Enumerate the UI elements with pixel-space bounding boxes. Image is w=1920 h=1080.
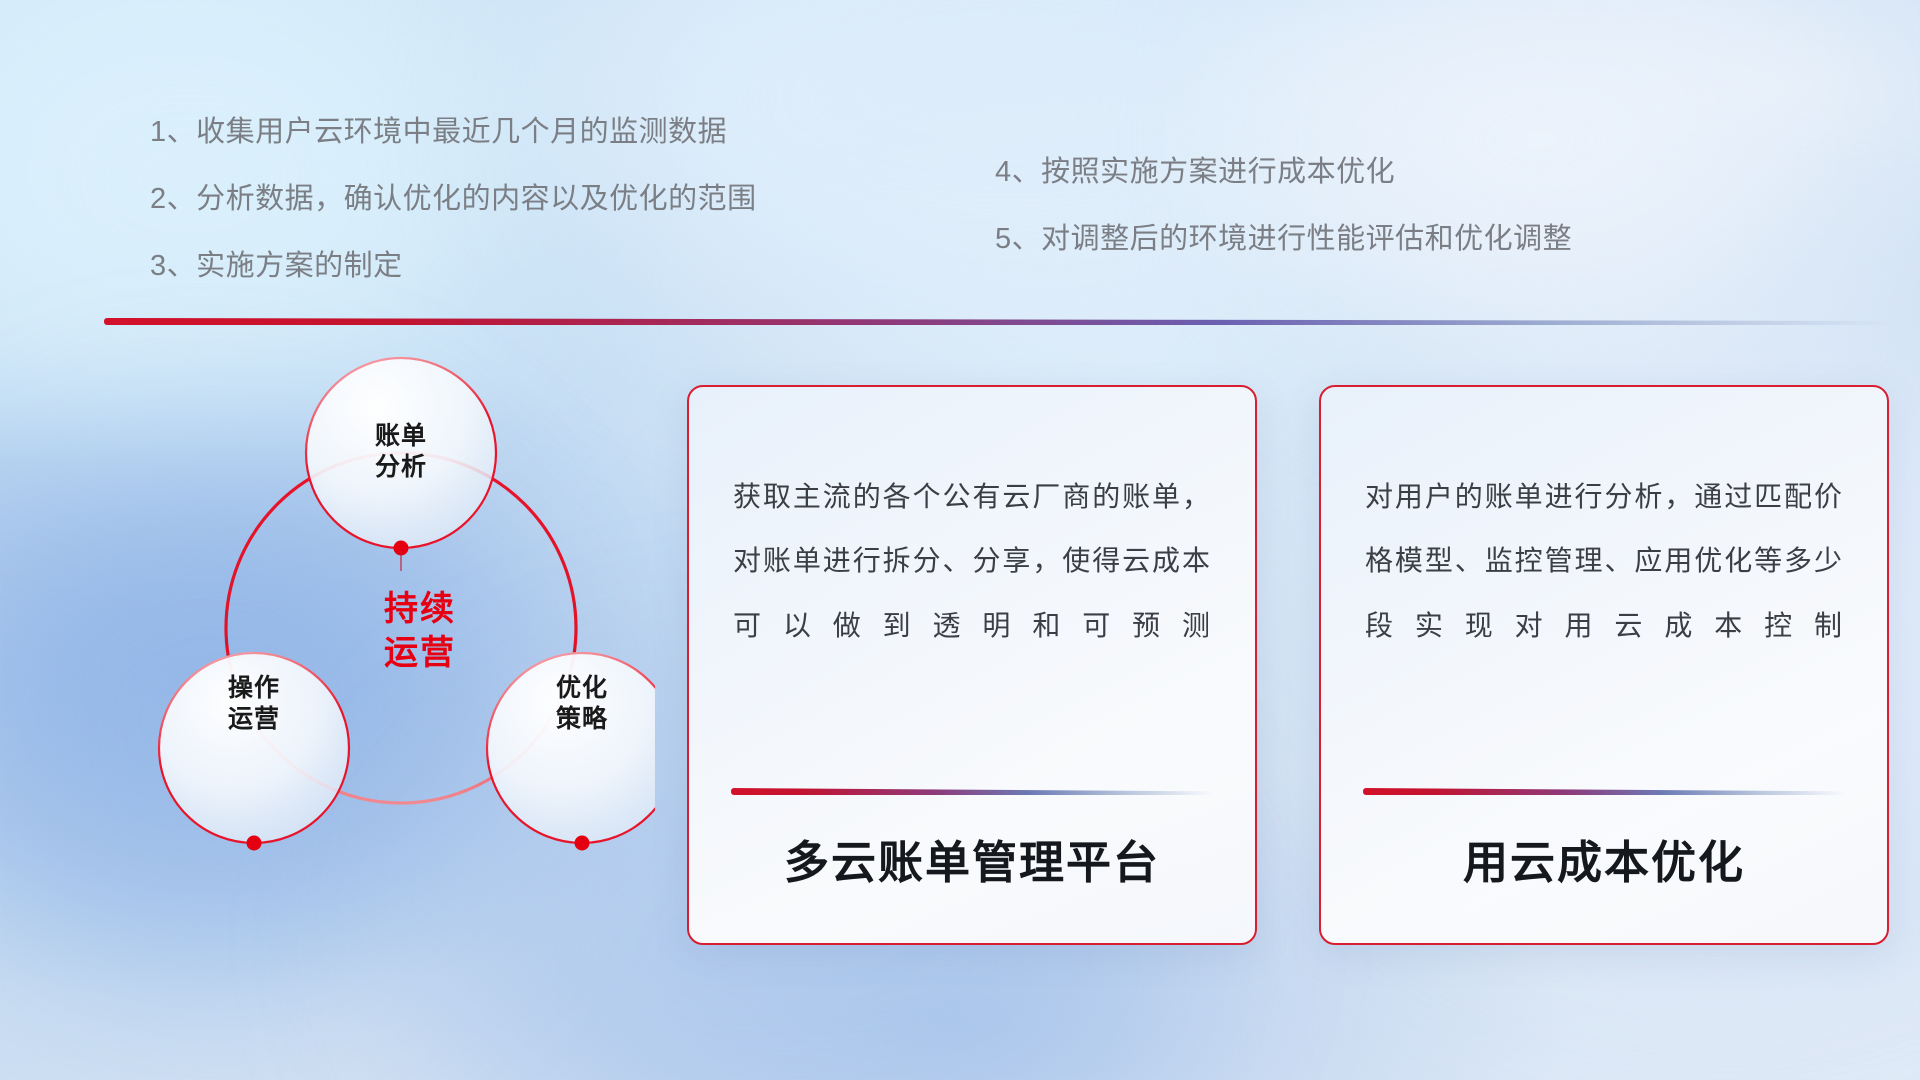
cycle-center-label: 持续 运营 [335, 587, 505, 675]
section-divider-rule [104, 318, 1894, 325]
cycle-node-label-bottom-right-line1: 优化 [556, 674, 608, 702]
feature-card-list: 获取主流的各个公有云厂商的账单，对账单进行拆分、分享，使得云成本可以做到透明和可… [687, 385, 1889, 945]
bullet-item-3: 3、实施方案的制定 [150, 252, 757, 281]
bullet-item-4: 4、按照实施方案进行成本优化 [995, 158, 1572, 187]
cycle-node-label-bottom-right: 优化 策略 [507, 673, 657, 736]
feature-card-rule [1363, 788, 1845, 795]
cycle-node-label-bottom-left-line1: 操作 [228, 674, 280, 702]
feature-card-title: 用云成本优化 [1321, 826, 1887, 891]
feature-card-multicloud-billing[interactable]: 获取主流的各个公有云厂商的账单，对账单进行拆分、分享，使得云成本可以做到透明和可… [687, 385, 1257, 945]
feature-card-rule [731, 788, 1213, 795]
feature-card-cost-optimization[interactable]: 对用户的账单进行分析，通过匹配价格模型、监控管理、应用优化等多少段实现对用云成本… [1319, 385, 1889, 945]
bullet-item-2: 2、分析数据，确认优化的内容以及优化的范围 [150, 185, 757, 214]
feature-card-body: 获取主流的各个公有云厂商的账单，对账单进行拆分、分享，使得云成本可以做到透明和可… [733, 465, 1211, 658]
cycle-node-label-bottom-left-line2: 运营 [228, 705, 280, 733]
cycle-node-label-bottom-right-line2: 策略 [556, 705, 608, 733]
cycle-node-label-bottom-left: 操作 运营 [179, 673, 329, 736]
bullet-item-1: 1、收集用户云环境中最近几个月的监测数据 [150, 118, 757, 147]
cycle-node-label-top-line2: 分析 [375, 453, 427, 481]
bullet-column-left: 1、收集用户云环境中最近几个月的监测数据 2、分析数据，确认优化的内容以及优化的… [150, 118, 757, 319]
feature-card-body: 对用户的账单进行分析，通过匹配价格模型、监控管理、应用优化等多少段实现对用云成本… [1365, 465, 1843, 658]
cycle-node-label-top-line1: 账单 [375, 422, 427, 450]
bullet-item-5: 5、对调整后的环境进行性能评估和优化调整 [995, 225, 1572, 254]
cycle-dot-bottom-right [575, 836, 590, 851]
cycle-center-label-line2: 运营 [384, 634, 456, 672]
cycle-center-label-line1: 持续 [384, 590, 456, 628]
cycle-node-label-top: 账单 分析 [326, 421, 476, 484]
feature-card-title: 多云账单管理平台 [689, 826, 1255, 891]
cycle-diagram: 账单 分析 操作 运营 优化 策略 持续 运营 [95, 355, 655, 955]
cycle-dot-bottom-left [247, 836, 262, 851]
bullet-column-right: 4、按照实施方案进行成本优化 5、对调整后的环境进行性能评估和优化调整 [995, 158, 1572, 292]
